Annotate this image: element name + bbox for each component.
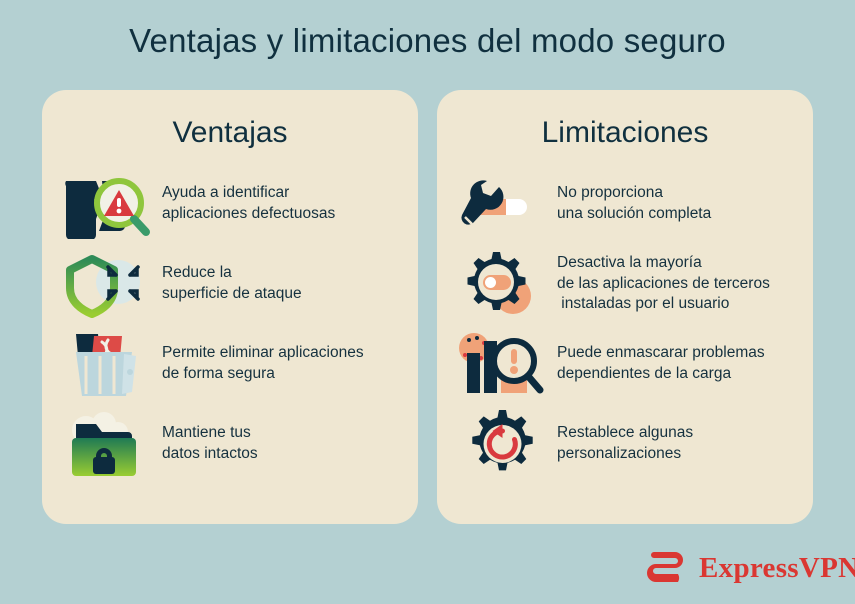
list-item-line: personalizaciones: [557, 444, 693, 465]
list-item: Ayuda a identificar aplicaciones defectu…: [42, 164, 418, 244]
expressvpn-e-logo: [645, 546, 689, 591]
list-item-line: Permite eliminar aplicaciones: [162, 343, 364, 364]
list-item-line: Desactiva la mayoría: [557, 253, 770, 274]
list-item-line: Puede enmascarar problemas: [557, 343, 765, 364]
bar-chart-magnifier-alert-icon: [455, 328, 551, 400]
locked-folder-cloud-icon: [60, 408, 156, 480]
list-item-line: datos intactos: [162, 444, 258, 465]
panel-advantages-title: Ventajas: [42, 116, 418, 150]
list-item-line: Mantiene tus: [162, 423, 258, 444]
panel-limitations-title: Limitaciones: [437, 116, 813, 150]
gear-toggle-off-icon: [455, 248, 551, 320]
list-item: Permite eliminar aplicaciones de forma s…: [42, 324, 418, 404]
brand-name: ExpressVPN: [699, 552, 855, 585]
brand-logo: ExpressVPN: [645, 546, 855, 591]
list-item: Desactiva la mayoría de las aplicaciones…: [437, 244, 813, 324]
list-item-line: superficie de ataque: [162, 284, 302, 305]
list-item-line: Ayuda a identificar: [162, 183, 335, 204]
list-item: Reduce la superficie de ataque: [42, 244, 418, 324]
list-item-line: Reduce la: [162, 263, 302, 284]
advantages-list: Ayuda a identificar aplicaciones defectu…: [42, 164, 418, 484]
list-item-text: Mantiene tus datos intactos: [156, 423, 258, 465]
list-item-line: una solución completa: [557, 204, 711, 225]
limitations-list: No proporciona una solución completa Des…: [437, 164, 813, 484]
list-item: Mantiene tus datos intactos: [42, 404, 418, 484]
list-item: Puede enmascarar problemas dependientes …: [437, 324, 813, 404]
list-item-line: No proporciona: [557, 183, 711, 204]
trash-bin-apps-icon: [60, 328, 156, 400]
wrench-progress-icon: [455, 168, 551, 240]
list-item-line: de forma segura: [162, 364, 364, 385]
list-item-text: Desactiva la mayoría de las aplicaciones…: [551, 253, 770, 316]
broken-app-magnifier-warning-icon: [60, 168, 156, 240]
list-item-text: No proporciona una solución completa: [551, 183, 711, 225]
list-item-text: Permite eliminar aplicaciones de forma s…: [156, 343, 364, 385]
page-title: Ventajas y limitaciones del modo seguro: [0, 22, 855, 60]
list-item-line: instaladas por el usuario: [557, 294, 770, 315]
panel-limitations: Limitaciones No proporciona una solución…: [437, 90, 813, 524]
list-item: No proporciona una solución completa: [437, 164, 813, 244]
list-item: Restablece algunas personalizaciones: [437, 404, 813, 484]
list-item-line: aplicaciones defectuosas: [162, 204, 335, 225]
list-item-line: dependientes de la carga: [557, 364, 765, 385]
list-item-text: Puede enmascarar problemas dependientes …: [551, 343, 765, 385]
list-item-text: Reduce la superficie de ataque: [156, 263, 302, 305]
shield-reduce-surface-icon: [60, 248, 156, 320]
list-item-line: de las aplicaciones de terceros: [557, 274, 770, 295]
list-item-text: Ayuda a identificar aplicaciones defectu…: [156, 183, 335, 225]
panel-advantages: Ventajas Ayuda a identificar aplicacione…: [42, 90, 418, 524]
list-item-text: Restablece algunas personalizaciones: [551, 423, 693, 465]
gear-reset-icon: [455, 408, 551, 480]
list-item-line: Restablece algunas: [557, 423, 693, 444]
